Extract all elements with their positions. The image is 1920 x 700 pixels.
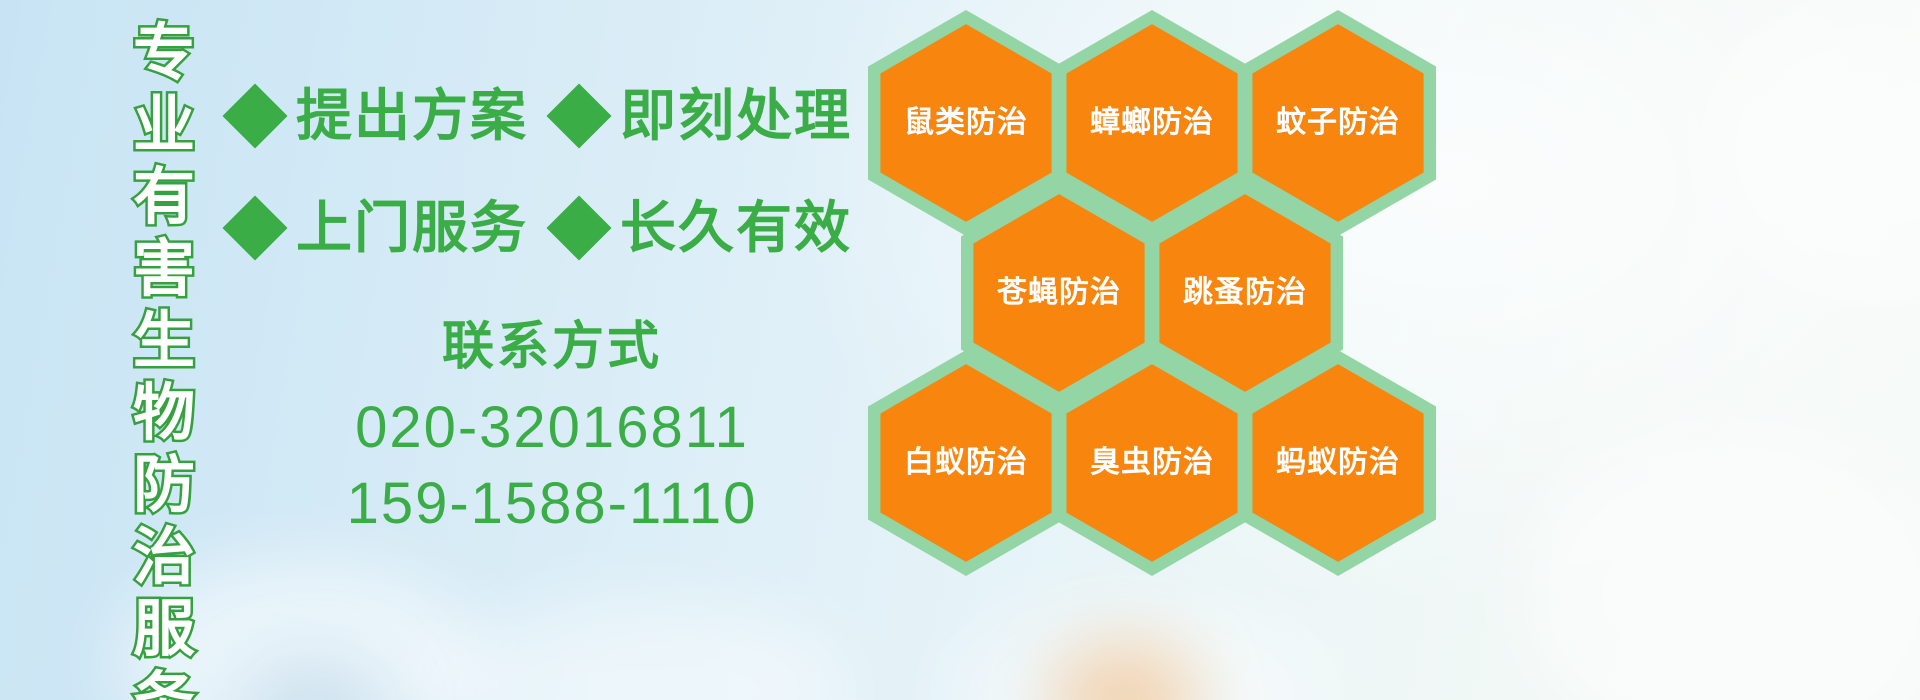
contact-phone-mobile[interactable]: 159-1588-1110	[232, 466, 872, 542]
vertical-headline-char: 业	[133, 90, 195, 162]
vertical-headline-char: 务	[133, 666, 195, 700]
vertical-headline-char: 防	[133, 450, 195, 522]
feature-label: 提出方案	[296, 86, 528, 146]
background-haze-blob	[430, 600, 850, 700]
service-hex-bedbug[interactable]: 臭虫防治	[1054, 350, 1250, 576]
contact-phone-landline[interactable]: 020-32016811	[232, 390, 872, 466]
contact-block: 联系方式 020-32016811 159-1588-1110	[232, 316, 872, 542]
service-hex-ant[interactable]: 蚂蚁防治	[1240, 350, 1436, 576]
contact-heading: 联系方式	[232, 316, 872, 378]
vertical-headline-char: 害	[133, 234, 195, 306]
service-hex-termite[interactable]: 白蚁防治	[868, 350, 1064, 576]
diamond-icon	[222, 195, 287, 260]
background-haze-blob	[950, 600, 1330, 700]
feature-row: 上门服务 长久有效	[232, 198, 852, 258]
service-hex-label: 鼠类防治	[868, 106, 1064, 140]
feature-label: 上门服务	[296, 198, 528, 258]
vertical-headline-char: 有	[133, 162, 195, 234]
background-haze-blob	[1520, 430, 1920, 700]
feature-item: 提出方案	[232, 86, 528, 146]
feature-item: 即刻处理	[556, 86, 852, 146]
feature-item: 上门服务	[232, 198, 528, 258]
promo-banner: 专 业 有 害 生 物 防 治 服 务 提出方案 即刻处理 上门服务 长久有效	[0, 0, 1920, 700]
vertical-headline-char: 治	[133, 522, 195, 594]
vertical-headline-char: 物	[133, 378, 195, 450]
service-honeycomb: 鼠类防治 蟑螂防治 蚊子防治 苍蝇防治 跳蚤防治 白蚁防治	[860, 0, 1480, 560]
service-hex-label: 蟑螂防治	[1054, 106, 1250, 140]
background-haze-blob	[1700, 0, 1920, 300]
service-hex-label: 臭虫防治	[1054, 446, 1250, 480]
diamond-icon	[546, 195, 611, 260]
vertical-headline: 专 业 有 害 生 物 防 治 服 务	[112, 18, 216, 678]
background-haze-blob	[240, 660, 390, 700]
service-hex-label: 蚂蚁防治	[1240, 446, 1436, 480]
diamond-icon	[546, 83, 611, 148]
diamond-icon	[222, 83, 287, 148]
vertical-headline-char: 服	[133, 594, 195, 666]
service-hex-label: 白蚁防治	[868, 446, 1064, 480]
service-hex-label: 蚊子防治	[1240, 106, 1436, 140]
feature-label: 即刻处理	[620, 86, 852, 146]
service-hex-label: 跳蚤防治	[1147, 276, 1343, 310]
feature-item: 长久有效	[556, 198, 852, 258]
service-hex-label: 苍蝇防治	[961, 276, 1157, 310]
vertical-headline-char: 生	[133, 306, 195, 378]
vertical-headline-char: 专	[133, 18, 195, 90]
feature-row: 提出方案 即刻处理	[232, 86, 852, 146]
feature-label: 长久有效	[620, 198, 852, 258]
background-haze-blob	[1050, 640, 1200, 700]
